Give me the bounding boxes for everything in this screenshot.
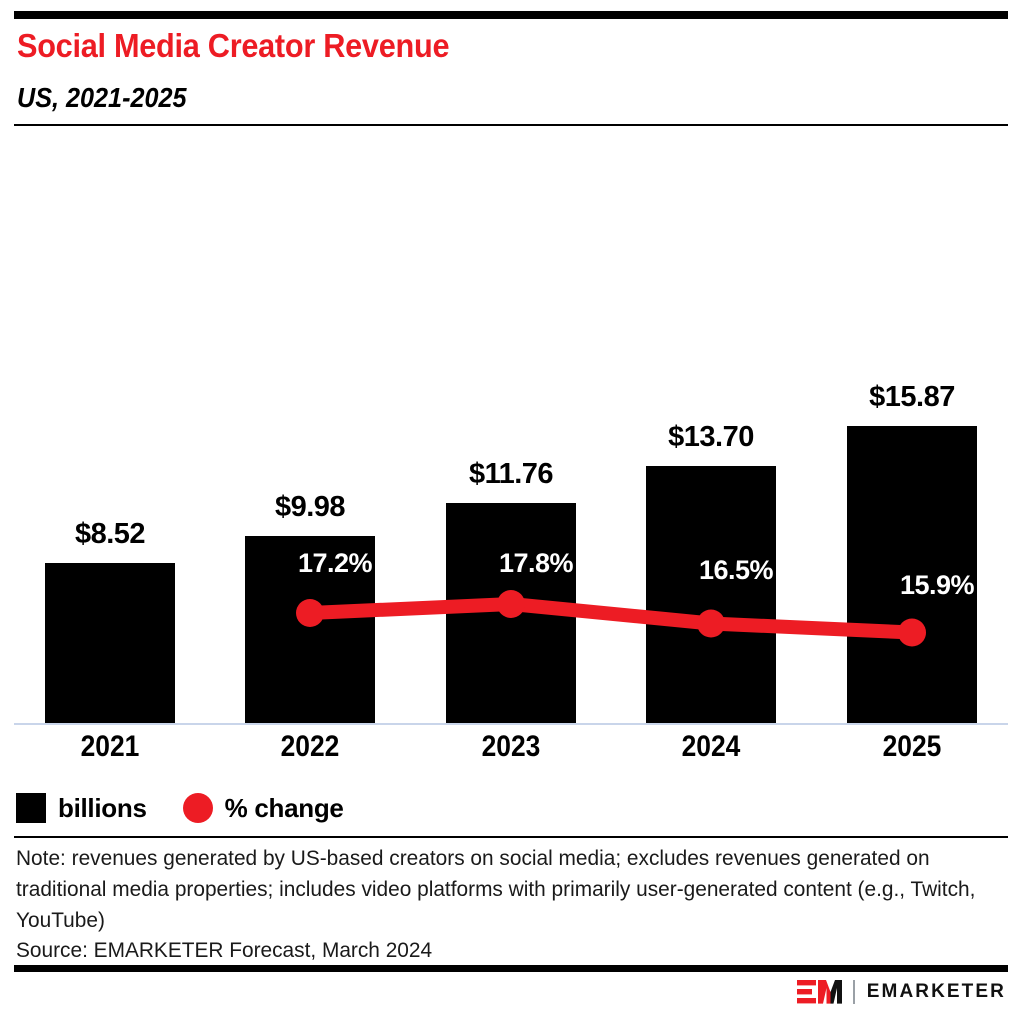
brand-logo: EMARKETER bbox=[797, 978, 1006, 1006]
footer-divider bbox=[14, 836, 1008, 838]
x-label-2021: 2021 bbox=[31, 730, 189, 764]
legend-item-billions: billions bbox=[16, 793, 147, 824]
legend-item-pct-change: % change bbox=[183, 793, 344, 824]
page-subtitle: US, 2021-2025 bbox=[17, 80, 187, 116]
circle-swatch-icon bbox=[183, 793, 213, 823]
bottom-rule bbox=[14, 965, 1008, 972]
pct-change-labels: 17.2% 17.8% 16.5% 15.9% bbox=[0, 130, 1020, 725]
top-rule bbox=[14, 11, 1008, 19]
chart-source: Source: EMARKETER Forecast, March 2024 bbox=[16, 936, 432, 964]
chart-plot-area: $8.52 $9.98 $11.76 $13.70 $15.87 17.2% bbox=[0, 130, 1020, 730]
x-label-2025: 2025 bbox=[833, 730, 991, 764]
legend-label-billions: billions bbox=[58, 793, 147, 824]
brand-wordmark: EMARKETER bbox=[867, 981, 1006, 1003]
brand-divider bbox=[853, 980, 855, 1004]
chart-page: Social Media Creator Revenue US, 2021-20… bbox=[0, 0, 1020, 1016]
pct-label-2025: 15.9% bbox=[847, 570, 1020, 601]
pct-label-2024: 16.5% bbox=[646, 555, 826, 586]
x-label-2024: 2024 bbox=[632, 730, 790, 764]
legend-label-pct-change: % change bbox=[225, 793, 344, 824]
chart-legend: billions % change bbox=[16, 788, 380, 828]
x-label-2022: 2022 bbox=[231, 730, 389, 764]
chart-note: Note: revenues generated by US-based cre… bbox=[16, 843, 976, 936]
x-axis-labels: 2021 2022 2023 2024 2025 bbox=[0, 730, 1020, 776]
pct-label-2022: 17.2% bbox=[245, 548, 425, 579]
square-swatch-icon bbox=[16, 793, 46, 823]
header-divider bbox=[14, 124, 1008, 126]
pct-label-2023: 17.8% bbox=[446, 548, 626, 579]
page-title: Social Media Creator Revenue bbox=[17, 26, 449, 66]
em-monogram-icon bbox=[797, 979, 843, 1005]
x-label-2023: 2023 bbox=[432, 730, 590, 764]
